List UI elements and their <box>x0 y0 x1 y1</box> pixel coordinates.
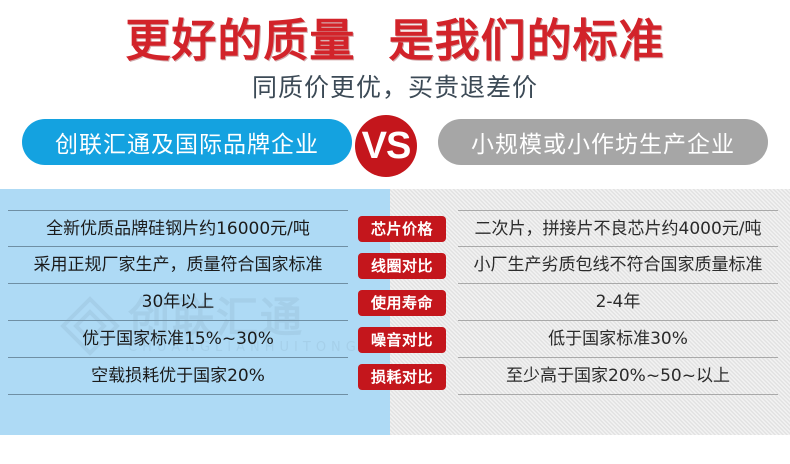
table-row: 全新优质品牌硅钢片约16000元/吨芯片价格二次片，拼接片不良芯片约4000元/… <box>0 210 790 247</box>
promo-banner: 更好的质量 是我们的标准 同质价更优，买贵退差价 创联汇通及国际品牌企业 VS … <box>0 0 790 464</box>
row-right-value: 小厂生产劣质包线不符合国家质量标准 <box>458 247 778 284</box>
page-subtitle: 同质价更优，买贵退差价 <box>0 72 790 104</box>
brand-pill-theirs-label: 小规模或小作坊生产企业 <box>471 125 735 159</box>
row-category-badge: 损耗对比 <box>358 364 446 390</box>
brand-pill-theirs: 小规模或小作坊生产企业 <box>438 119 768 165</box>
row-left-value: 空载损耗优于国家20% <box>8 358 348 395</box>
row-category-badge: 芯片价格 <box>358 216 446 242</box>
row-left-value: 30年以上 <box>8 284 348 321</box>
row-left-value: 全新优质品牌硅钢片约16000元/吨 <box>8 210 348 247</box>
brand-pill-ours: 创联汇通及国际品牌企业 <box>22 119 352 165</box>
row-right-value: 2-4年 <box>458 284 778 321</box>
table-row: 采用正规厂家生产，质量符合国家标准线圈对比小厂生产劣质包线不符合国家质量标准 <box>0 247 790 284</box>
row-category-badge: 噪音对比 <box>358 327 446 353</box>
page-title: 更好的质量 是我们的标准 <box>0 14 790 68</box>
row-left-value: 优于国家标准15%~30% <box>8 321 348 358</box>
row-right-value: 二次片，拼接片不良芯片约4000元/吨 <box>458 210 778 247</box>
row-right-value: 低于国家标准30% <box>458 321 778 358</box>
row-category-badge: 线圈对比 <box>358 253 446 279</box>
row-category-badge: 使用寿命 <box>358 290 446 316</box>
table-row: 空载损耗优于国家20%损耗对比至少高于国家20%~50~以上 <box>0 358 790 395</box>
versus-band: 创联汇通及国际品牌企业 VS 小规模或小作坊生产企业 <box>0 115 790 177</box>
vs-badge: VS <box>355 115 417 177</box>
comparison-rows: 全新优质品牌硅钢片约16000元/吨芯片价格二次片，拼接片不良芯片约4000元/… <box>0 189 790 435</box>
table-row: 优于国家标准15%~30%噪音对比低于国家标准30% <box>0 321 790 358</box>
vs-badge-label: VS <box>362 127 411 165</box>
row-right-value: 至少高于国家20%~50~以上 <box>458 358 778 395</box>
table-row: 30年以上使用寿命2-4年 <box>0 284 790 321</box>
brand-pill-ours-label: 创联汇通及国际品牌企业 <box>55 125 319 159</box>
row-left-value: 采用正规厂家生产，质量符合国家标准 <box>8 247 348 284</box>
